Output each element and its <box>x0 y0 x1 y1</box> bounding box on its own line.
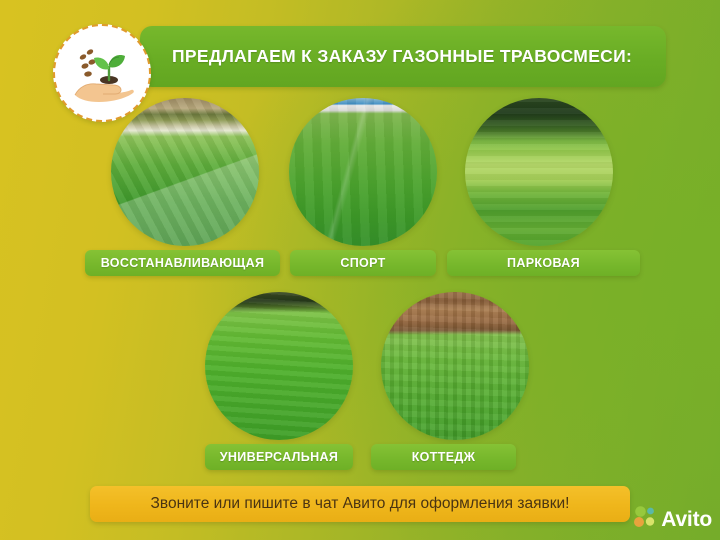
call-to-action-banner[interactable]: Звоните или пишите в чат Авито для оформ… <box>90 486 630 522</box>
product-label-text: УНИВЕРСАЛЬНАЯ <box>220 450 338 464</box>
logo-badge <box>53 24 151 122</box>
cottage-lawn-with-fence-photo <box>381 292 529 440</box>
product-photo-sport <box>289 98 437 246</box>
avito-brand-text: Avito <box>661 509 712 530</box>
product-label-sport[interactable]: СПОРТ <box>290 250 436 276</box>
product-label-restorative[interactable]: ВОССТАНАВЛИВАЮЩАЯ <box>85 250 280 276</box>
page-title: ПРЕДЛАГАЕМ К ЗАКАЗУ ГАЗОННЫЕ ТРАВОСМЕСИ: <box>140 46 632 67</box>
avito-watermark: Avito <box>634 506 712 533</box>
product-photo-park <box>465 98 613 246</box>
header-banner: ПРЕДЛАГАЕМ К ЗАКАЗУ ГАЗОННЫЕ ТРАВОСМЕСИ: <box>140 26 666 87</box>
fresh-green-turf-photo <box>205 292 353 440</box>
product-photo-universal <box>205 292 353 440</box>
avito-logo-icon <box>634 506 656 533</box>
product-photo-cottage <box>381 292 529 440</box>
call-to-action-text: Звоните или пишите в чат Авито для оформ… <box>151 495 570 513</box>
sports-field-photo <box>289 98 437 246</box>
lawn-diagonal-mown-stripes-photo <box>111 98 259 246</box>
product-photo-restorative <box>111 98 259 246</box>
product-label-cottage[interactable]: КОТТЕДЖ <box>371 444 516 470</box>
product-label-park[interactable]: ПАРКОВАЯ <box>447 250 640 276</box>
header: ПРЕДЛАГАЕМ К ЗАКАЗУ ГАЗОННЫЕ ТРАВОСМЕСИ: <box>0 26 720 90</box>
product-label-text: СПОРТ <box>340 256 385 270</box>
park-lawn-with-trees-photo <box>465 98 613 246</box>
product-label-text: ПАРКОВАЯ <box>507 256 580 270</box>
product-label-universal[interactable]: УНИВЕРСАЛЬНАЯ <box>205 444 353 470</box>
hand-with-sprout-icon <box>69 43 135 103</box>
product-label-text: ВОССТАНАВЛИВАЮЩАЯ <box>101 256 265 270</box>
product-label-text: КОТТЕДЖ <box>412 450 476 464</box>
lawn-grass-seed-mixes-advertisement-poster: ПРЕДЛАГАЕМ К ЗАКАЗУ ГАЗОННЫЕ ТРАВОСМЕСИ: <box>0 0 720 540</box>
